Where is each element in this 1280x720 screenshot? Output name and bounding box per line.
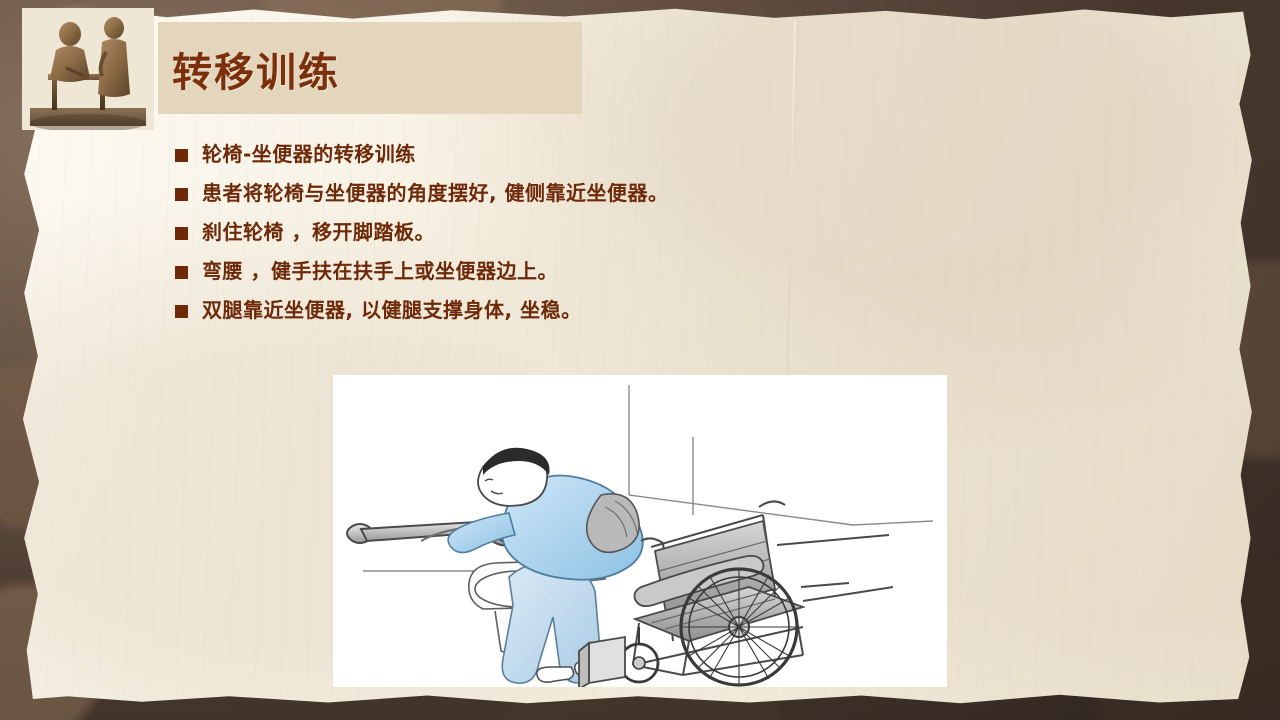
square-bullet-icon bbox=[175, 266, 188, 279]
list-item: 轮椅-坐便器的转移训练 bbox=[175, 142, 895, 167]
wheelchair-to-toilet-transfer-illustration bbox=[333, 375, 947, 687]
square-bullet-icon bbox=[175, 305, 188, 318]
list-item: 刹住轮椅 ，移开脚踏板。 bbox=[175, 220, 895, 245]
bronze-statue-thumbnail bbox=[22, 8, 154, 130]
list-item-text: 轮椅-坐便器的转移训练 bbox=[202, 142, 416, 167]
slide-root: 转移训练 轮椅-坐便器的转移训练 患者将轮椅与坐便器的角度摆好, 健侧靠近坐便器… bbox=[0, 0, 1280, 720]
bullet-list: 轮椅-坐便器的转移训练 患者将轮椅与坐便器的角度摆好, 健侧靠近坐便器。 刹住轮… bbox=[175, 142, 895, 337]
list-item: 患者将轮椅与坐便器的角度摆好, 健侧靠近坐便器。 bbox=[175, 181, 895, 206]
square-bullet-icon bbox=[175, 188, 188, 201]
square-bullet-icon bbox=[175, 227, 188, 240]
list-item: 双腿靠近坐便器, 以健腿支撑身体, 坐稳。 bbox=[175, 298, 895, 323]
list-item: 弯腰 ，健手扶在扶手上或坐便器边上。 bbox=[175, 259, 895, 284]
page-title: 转移训练 bbox=[172, 40, 340, 98]
list-item-text: 弯腰 ，健手扶在扶手上或坐便器边上。 bbox=[202, 259, 558, 284]
list-item-text: 患者将轮椅与坐便器的角度摆好, 健侧靠近坐便器。 bbox=[202, 181, 669, 206]
list-item-text: 双腿靠近坐便器, 以健腿支撑身体, 坐稳。 bbox=[202, 298, 582, 323]
square-bullet-icon bbox=[175, 149, 188, 162]
list-item-text: 刹住轮椅 ，移开脚踏板。 bbox=[202, 220, 435, 245]
